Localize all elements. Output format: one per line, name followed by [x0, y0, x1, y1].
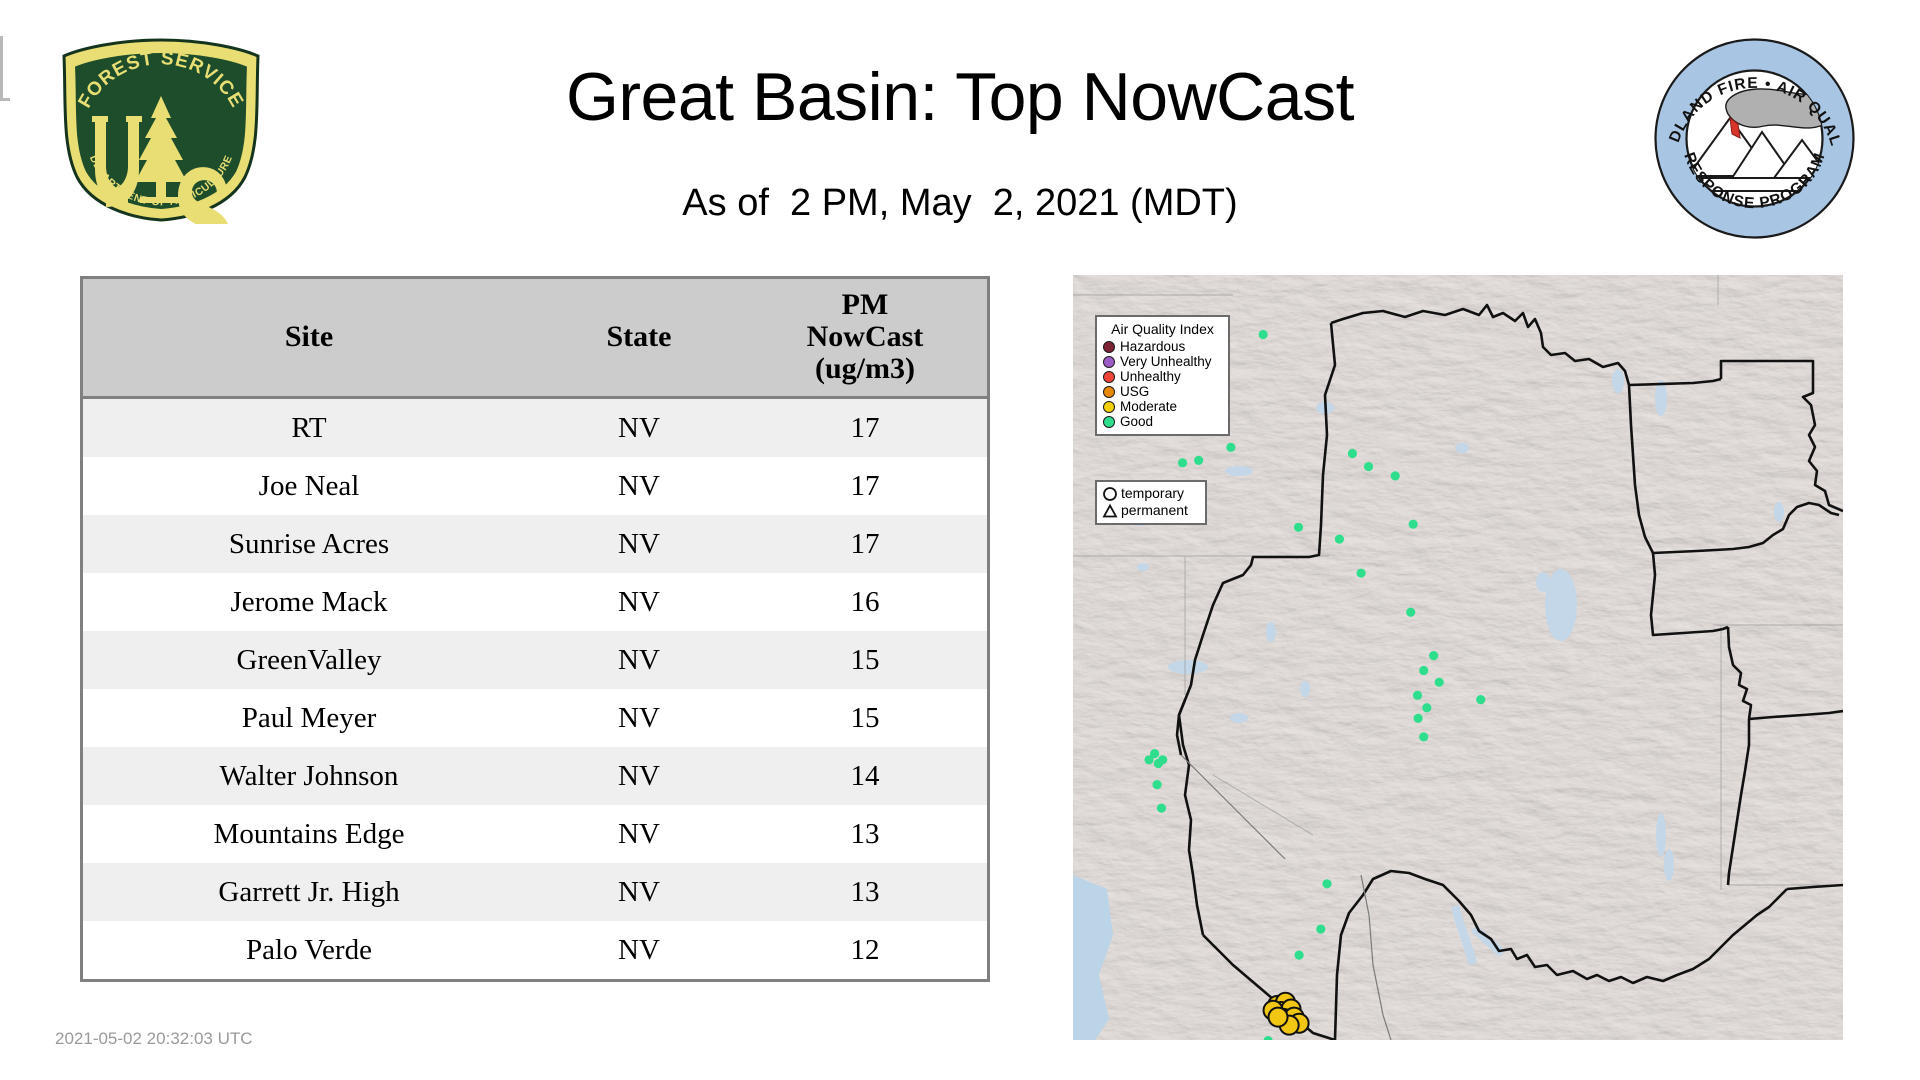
table-row: Mountains EdgeNV13: [83, 805, 987, 863]
monitor-point-good[interactable]: [1194, 456, 1203, 465]
site-cell: RT: [83, 398, 535, 458]
site-cell: Palo Verde: [83, 921, 535, 979]
air-quality-index-legend: Air Quality Index HazardousVery Unhealth…: [1095, 315, 1230, 436]
site-type-row-permanent: permanent: [1102, 502, 1200, 519]
legend-color-swatch: [1103, 371, 1115, 383]
monitor-point-good[interactable]: [1476, 695, 1485, 704]
site-type-row-temporary: temporary: [1102, 485, 1200, 502]
legend-rows: HazardousVery UnhealthyUnhealthyUSGModer…: [1103, 339, 1222, 429]
wfaqrp-logo: WILDLAND FIRE • AIR QUALITY RESPONSE PRO…: [1652, 36, 1857, 241]
column-header-site: Site: [83, 279, 535, 398]
site-cell: GreenValley: [83, 631, 535, 689]
monitor-point-good[interactable]: [1335, 534, 1344, 543]
site-cell: Mountains Edge: [83, 805, 535, 863]
monitor-point-good[interactable]: [1295, 951, 1304, 960]
page-subtitle: As of 2 PM, May 2, 2021 (MDT): [260, 182, 1660, 225]
monitor-point-good[interactable]: [1435, 678, 1444, 687]
monitor-point-good[interactable]: [1348, 449, 1357, 458]
great-basin-monitor-map[interactable]: Air Quality Index HazardousVery Unhealth…: [1073, 275, 1843, 1040]
monitor-point-good[interactable]: [1316, 924, 1325, 933]
value-cell: 17: [743, 515, 987, 573]
table-row: RTNV17: [83, 398, 987, 458]
value-cell: 15: [743, 689, 987, 747]
value-cell: 14: [743, 747, 987, 805]
us-forest-service-logo: FOREST SERVICE DEPARTMENT OF AGRICULTURE: [52, 34, 270, 224]
column-header-pm-line2: NowCast: [743, 321, 987, 353]
table-row: GreenValleyNV15: [83, 631, 987, 689]
value-cell: 15: [743, 631, 987, 689]
legend-item-label: Hazardous: [1120, 340, 1185, 354]
monitor-point-good[interactable]: [1178, 458, 1187, 467]
forest-service-shield-icon: FOREST SERVICE DEPARTMENT OF AGRICULTURE: [52, 34, 270, 224]
legend-item-label: Moderate: [1120, 400, 1177, 414]
legend-item: Moderate: [1103, 399, 1222, 414]
legend-color-swatch: [1103, 401, 1115, 413]
table-row: Jerome MackNV16: [83, 573, 987, 631]
monitor-point-good[interactable]: [1429, 651, 1438, 660]
column-header-pm-nowcast: PM NowCast (ug/m3): [743, 279, 987, 398]
legend-title: Air Quality Index: [1103, 321, 1222, 337]
monitor-point-good[interactable]: [1226, 443, 1235, 452]
page-title: Great Basin: Top NowCast: [260, 58, 1660, 136]
state-cell: NV: [535, 631, 743, 689]
legend-color-swatch: [1103, 356, 1115, 368]
monitor-point-good[interactable]: [1322, 879, 1331, 888]
monitor-point-good[interactable]: [1422, 703, 1431, 712]
legend-color-swatch: [1103, 386, 1115, 398]
legend-item-label: Good: [1120, 415, 1153, 429]
monitor-point-moderate[interactable]: [1269, 1008, 1288, 1027]
site-type-label-permanent: permanent: [1121, 503, 1188, 518]
legend-item: USG: [1103, 384, 1222, 399]
legend-item: Unhealthy: [1103, 369, 1222, 384]
legend-item-label: USG: [1120, 385, 1149, 399]
site-cell: Garrett Jr. High: [83, 863, 535, 921]
column-header-state: State: [535, 279, 743, 398]
permanent-triangle-icon: [1102, 503, 1118, 519]
image-edge-artifact: [0, 36, 3, 98]
table-row: Paul MeyerNV15: [83, 689, 987, 747]
state-cell: NV: [535, 457, 743, 515]
legend-item: Very Unhealthy: [1103, 354, 1222, 369]
monitor-point-good[interactable]: [1357, 569, 1366, 578]
state-cell: NV: [535, 747, 743, 805]
state-cell: NV: [535, 863, 743, 921]
image-edge-artifact-2: [0, 98, 10, 101]
column-header-pm-line1: PM: [743, 289, 987, 321]
state-cell: NV: [535, 398, 743, 458]
legend-item-label: Unhealthy: [1120, 370, 1181, 384]
temporary-circle-icon: [1102, 486, 1118, 502]
nowcast-table: Site State PM NowCast (ug/m3) RTNV17Joe …: [83, 279, 987, 979]
monitor-point-good[interactable]: [1409, 520, 1418, 529]
table-row: Walter JohnsonNV14: [83, 747, 987, 805]
monitor-point-good[interactable]: [1259, 330, 1268, 339]
table-header: Site State PM NowCast (ug/m3): [83, 279, 987, 398]
nowcast-table-container: Site State PM NowCast (ug/m3) RTNV17Joe …: [80, 276, 990, 982]
value-cell: 13: [743, 863, 987, 921]
monitor-point-good[interactable]: [1364, 462, 1373, 471]
monitor-point-good[interactable]: [1406, 608, 1415, 617]
state-cell: NV: [535, 805, 743, 863]
table-row: Joe NealNV17: [83, 457, 987, 515]
table-body: RTNV17Joe NealNV17Sunrise AcresNV17Jerom…: [83, 398, 987, 980]
legend-color-swatch: [1103, 341, 1115, 353]
table-row: Palo VerdeNV12: [83, 921, 987, 979]
monitor-point-good[interactable]: [1144, 755, 1153, 764]
monitor-point-good[interactable]: [1414, 714, 1423, 723]
site-cell: Walter Johnson: [83, 747, 535, 805]
site-type-legend: temporary permanent: [1095, 480, 1207, 525]
monitor-point-good[interactable]: [1157, 804, 1166, 813]
monitor-point-good[interactable]: [1413, 691, 1422, 700]
monitor-point-good[interactable]: [1419, 666, 1428, 675]
state-cell: NV: [535, 689, 743, 747]
monitor-point-good[interactable]: [1391, 471, 1400, 480]
state-cell: NV: [535, 515, 743, 573]
monitor-point-good[interactable]: [1294, 523, 1303, 532]
table-header-row: Site State PM NowCast (ug/m3): [83, 279, 987, 398]
monitor-point-good[interactable]: [1153, 780, 1162, 789]
table-row: Garrett Jr. HighNV13: [83, 863, 987, 921]
value-cell: 17: [743, 398, 987, 458]
value-cell: 12: [743, 921, 987, 979]
generation-timestamp: 2021-05-02 20:32:03 UTC: [55, 1029, 253, 1049]
state-cell: NV: [535, 573, 743, 631]
monitor-point-good[interactable]: [1158, 755, 1167, 764]
site-cell: Joe Neal: [83, 457, 535, 515]
value-cell: 17: [743, 457, 987, 515]
value-cell: 16: [743, 573, 987, 631]
site-cell: Paul Meyer: [83, 689, 535, 747]
table-row: Sunrise AcresNV17: [83, 515, 987, 573]
legend-item: Hazardous: [1103, 339, 1222, 354]
legend-item-label: Very Unhealthy: [1120, 355, 1212, 369]
site-cell: Sunrise Acres: [83, 515, 535, 573]
column-header-pm-line3: (ug/m3): [743, 353, 987, 385]
legend-color-swatch: [1103, 416, 1115, 428]
value-cell: 13: [743, 805, 987, 863]
state-cell: NV: [535, 921, 743, 979]
site-type-label-temporary: temporary: [1121, 486, 1184, 501]
site-cell: Jerome Mack: [83, 573, 535, 631]
legend-item: Good: [1103, 414, 1222, 429]
wildland-fire-air-quality-seal-icon: WILDLAND FIRE • AIR QUALITY RESPONSE PRO…: [1652, 36, 1857, 241]
monitor-point-good[interactable]: [1419, 732, 1428, 741]
